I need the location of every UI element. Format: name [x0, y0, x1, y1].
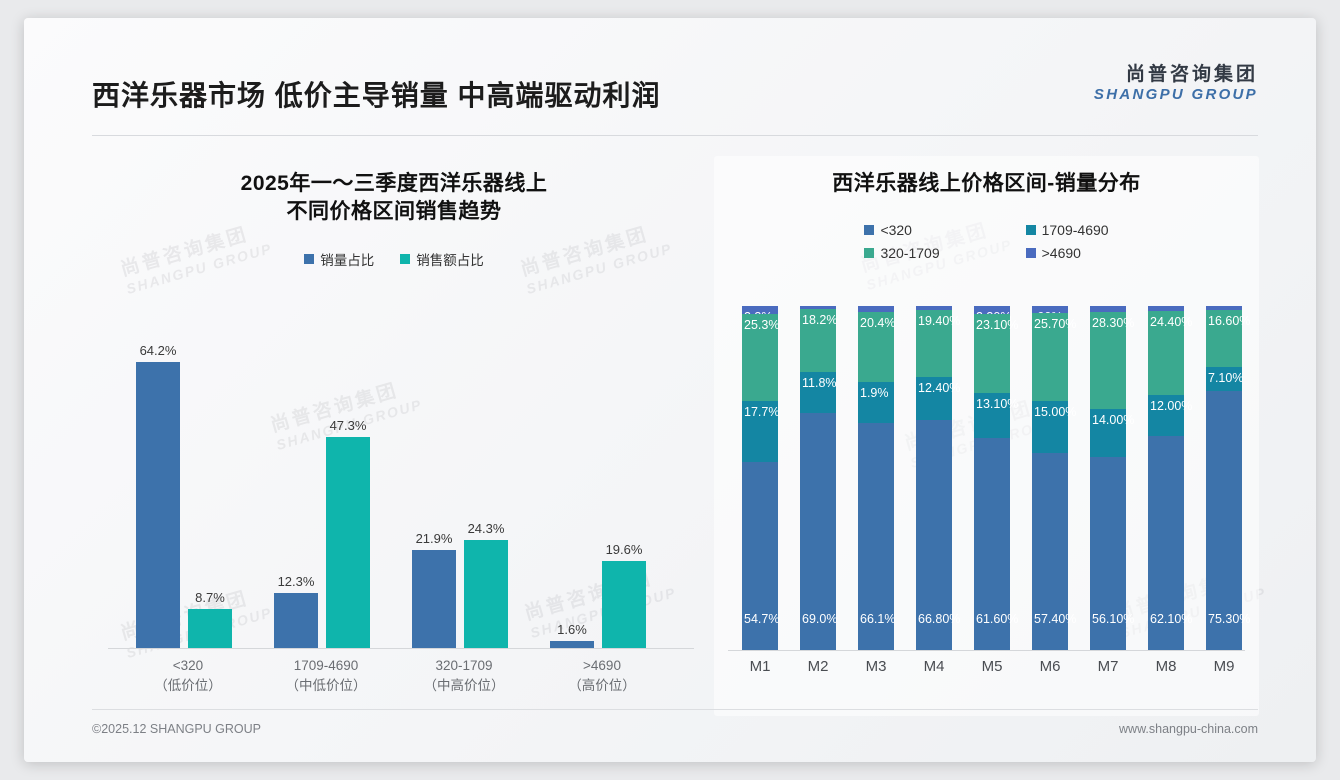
bar-fill	[550, 641, 594, 648]
slide-header: 西洋乐器市场 低价主导销量 中高端驱动利润 尚普咨询集团 SHANGPU GRO…	[24, 18, 1316, 122]
stack-value-label: 12.00%	[1150, 399, 1192, 413]
legend-swatch-icon	[1026, 225, 1036, 235]
bar-value-label: 19.6%	[602, 542, 646, 561]
legend-item-1[interactable]: 1709-4690	[1026, 222, 1109, 238]
stack-segment[interactable]: 56.10%	[1090, 457, 1126, 650]
bar-fill	[136, 362, 180, 648]
stack-value-label: 12.40%	[918, 381, 960, 395]
bar-value-label: 47.3%	[326, 418, 370, 437]
bar-group: 64.2%8.7%	[126, 336, 250, 648]
stack-segment[interactable]: 12.00%	[1148, 395, 1184, 436]
bar-value-label: 21.9%	[412, 531, 456, 550]
stacked-bar[interactable]: .70%28.30%14.00%56.10%	[1090, 306, 1126, 650]
left-chart-legend: 销量占比销售额占比	[84, 249, 704, 269]
stack-segment[interactable]: 23.10%	[974, 314, 1010, 393]
left-chart-title: 2025年一～三季度西洋乐器线上 不同价格区间销售趋势	[84, 170, 704, 227]
legend-label: 320-1709	[880, 245, 939, 261]
footer-website: www.shangpu-china.com	[1119, 722, 1258, 736]
bar[interactable]: 24.3%	[464, 540, 508, 648]
legend-item-2[interactable]: 320-1709	[864, 245, 939, 261]
stack-value-label: 25.70%	[1034, 317, 1076, 331]
stack-value-label: 17.7%	[744, 405, 779, 419]
category-range: <320	[126, 656, 250, 676]
category-tier: （中低价位）	[264, 676, 388, 696]
x-axis-month-label: M1	[742, 658, 778, 675]
stack-segment[interactable]: 28.30%	[1090, 312, 1126, 409]
left-chart-panel: 2025年一～三季度西洋乐器线上 不同价格区间销售趋势 销量占比销售额占比 64…	[84, 156, 704, 716]
legend-label: 1709-4690	[1042, 222, 1109, 238]
stack-segment[interactable]: 20.4%	[858, 312, 894, 382]
header-divider	[92, 135, 1258, 136]
stack-segment[interactable]: 75.30%	[1206, 391, 1242, 650]
x-axis-category-label: 1709-4690（中低价位）	[264, 656, 388, 695]
logo-cn-text: 尚普咨询集团	[1094, 64, 1258, 86]
category-tier: （中高价位）	[402, 676, 526, 696]
x-axis-month-label: M8	[1148, 658, 1184, 675]
stack-value-label: 75.30%	[1208, 612, 1250, 626]
stack-value-label: 69.0%	[802, 612, 837, 626]
bar-fill	[188, 609, 232, 648]
stack-segment[interactable]: 13.10%	[974, 393, 1010, 438]
stacked-bar[interactable]: 1.6%20.4%1.9%66.1%	[858, 306, 894, 650]
brand-logo: 尚普咨询集团 SHANGPU GROUP	[1094, 64, 1258, 104]
slide-canvas: 尚普咨询集团 SHANGPU GROUP 尚普咨询集团 SHANGPU GROU…	[24, 18, 1316, 762]
stacked-bar[interactable]: .90%25.70%15.00%57.40%	[1032, 306, 1068, 650]
stack-segment[interactable]: 24.40%	[1148, 311, 1184, 395]
stacked-bar[interactable]: 2.30%23.10%13.10%61.60%	[974, 306, 1010, 650]
bar-value-label: 64.2%	[136, 343, 180, 362]
left-chart-title-line2: 不同价格区间销售趋势	[84, 198, 704, 226]
logo-en-text: SHANGPU GROUP	[1094, 86, 1258, 104]
x-axis-month-label: M9	[1206, 658, 1242, 675]
stack-segment[interactable]: 19.40%	[916, 310, 952, 377]
stack-value-label: 24.40%	[1150, 315, 1192, 329]
stack-segment[interactable]: 25.70%	[1032, 313, 1068, 401]
x-axis-month-label: M4	[916, 658, 952, 675]
stack-value-label: 16.60%	[1208, 314, 1250, 328]
stack-value-label: 66.80%	[918, 612, 960, 626]
legend-label: <320	[880, 222, 912, 238]
stack-value-label: 66.1%	[860, 612, 895, 626]
category-tier: （高价位）	[540, 676, 664, 696]
bar[interactable]: 8.7%	[188, 609, 232, 648]
legend-item-1[interactable]: 销售额占比	[400, 249, 484, 269]
legend-item-3[interactable]: >4690	[1026, 245, 1109, 261]
stack-segment[interactable]: 62.10%	[1148, 436, 1184, 650]
bar-fill	[326, 437, 370, 648]
stack-segment[interactable]: 61.60%	[974, 438, 1010, 650]
right-chart-panel: 西洋乐器线上价格区间-销量分布 <3201709-4690320-1709>46…	[714, 156, 1259, 716]
legend-swatch-icon	[400, 254, 410, 264]
bar-fill	[412, 550, 456, 648]
bar-group: 12.3%47.3%	[264, 336, 388, 648]
bar-fill	[464, 540, 508, 648]
x-axis-month-label: M3	[858, 658, 894, 675]
legend-swatch-icon	[304, 254, 314, 264]
bar[interactable]: 21.9%	[412, 550, 456, 648]
stack-value-label: 1.9%	[860, 386, 889, 400]
stack-value-label: 19.40%	[918, 314, 960, 328]
stack-segment[interactable]: 66.1%	[858, 423, 894, 650]
stack-segment[interactable]: 2.3%	[742, 306, 778, 314]
stack-segment[interactable]: 7.10%	[1206, 367, 1242, 391]
stack-segment[interactable]: 15.00%	[1032, 401, 1068, 453]
x-axis-category-label: 320-1709（中高价位）	[402, 656, 526, 695]
x-axis-month-label: M5	[974, 658, 1010, 675]
stacked-bar[interactable]: 1.0%18.2%11.8%69.0%	[800, 306, 836, 650]
legend-label: 销售额占比	[416, 249, 484, 269]
bar-value-label: 1.6%	[550, 622, 594, 641]
stack-value-label: 54.7%	[744, 612, 779, 626]
stacked-bar[interactable]: .50%24.40%12.00%62.10%	[1148, 306, 1184, 650]
x-axis-category-label: >4690（高价位）	[540, 656, 664, 695]
right-chart-axis	[728, 650, 1245, 651]
stack-segment[interactable]: 14.00%	[1090, 409, 1126, 457]
stack-value-label: 25.3%	[744, 318, 779, 332]
stack-segment[interactable]: 54.7%	[742, 462, 778, 650]
stack-segment[interactable]: 1.9%	[858, 382, 894, 423]
bar-value-label: 24.3%	[464, 521, 508, 540]
page-title: 西洋乐器市场 低价主导销量 中高端驱动利润	[92, 74, 661, 114]
legend-label: >4690	[1042, 245, 1081, 261]
category-range: 1709-4690	[264, 656, 388, 676]
category-range: >4690	[540, 656, 664, 676]
stack-value-label: 56.10%	[1092, 612, 1134, 626]
stacked-bar[interactable]: 2.3%25.3%17.7%54.7%	[742, 306, 778, 650]
category-tier: （低价位）	[126, 676, 250, 696]
x-axis-month-label: M7	[1090, 658, 1126, 675]
x-axis-month-label: M2	[800, 658, 836, 675]
stack-segment[interactable]: 57.40%	[1032, 453, 1068, 650]
stack-segment[interactable]: 17.7%	[742, 401, 778, 462]
bar[interactable]: 12.3%	[274, 593, 318, 648]
x-axis-category-label: <320（低价位）	[126, 656, 250, 695]
stack-segment[interactable]: 66.80%	[916, 420, 952, 650]
stack-segment[interactable]: 69.0%	[800, 413, 836, 650]
stack-segment[interactable]: 2.30%	[974, 306, 1010, 314]
right-chart-legend: <3201709-4690320-1709>4690	[714, 222, 1259, 261]
bar[interactable]: 19.6%	[602, 561, 646, 648]
right-chart-plot: 2.3%25.3%17.7%54.7%1.0%18.2%11.8%69.0%1.…	[736, 306, 1237, 650]
bar-fill	[602, 561, 646, 648]
legend-swatch-icon	[1026, 248, 1036, 258]
legend-item-0[interactable]: 销量占比	[304, 249, 374, 269]
stack-segment[interactable]: 12.40%	[916, 377, 952, 420]
left-chart-plot: 64.2%8.7%12.3%47.3%21.9%24.3%1.6%19.6%	[108, 336, 694, 648]
left-chart-title-line1: 2025年一～三季度西洋乐器线上	[84, 170, 704, 198]
stack-value-label: 14.00%	[1092, 413, 1134, 427]
legend-label: 销量占比	[320, 249, 374, 269]
stack-segment[interactable]: 16.60%	[1206, 310, 1242, 367]
legend-swatch-icon	[864, 248, 874, 258]
stack-value-label: 28.30%	[1092, 316, 1134, 330]
legend-item-0[interactable]: <320	[864, 222, 939, 238]
stack-value-label: 57.40%	[1034, 612, 1076, 626]
stack-value-label: 7.10%	[1208, 371, 1243, 385]
right-chart-title: 西洋乐器线上价格区间-销量分布	[714, 170, 1259, 198]
left-chart-axis	[108, 648, 694, 649]
bar-group: 21.9%24.3%	[402, 336, 526, 648]
stack-value-label: 62.10%	[1150, 612, 1192, 626]
category-range: 320-1709	[402, 656, 526, 676]
bar[interactable]: 47.3%	[326, 437, 370, 648]
stack-segment[interactable]: 18.2%	[800, 309, 836, 372]
stack-value-label: 18.2%	[802, 313, 837, 327]
footer-copyright: ©2025.12 SHANGPU GROUP	[92, 722, 261, 736]
stack-value-label: 13.10%	[976, 397, 1018, 411]
bar[interactable]: 1.6%	[550, 641, 594, 648]
legend-swatch-icon	[864, 225, 874, 235]
stack-value-label: 23.10%	[976, 318, 1018, 332]
bar-group: 1.6%19.6%	[540, 336, 664, 648]
bar-value-label: 8.7%	[188, 590, 232, 609]
x-axis-month-label: M6	[1032, 658, 1068, 675]
stack-value-label: 20.4%	[860, 316, 895, 330]
stack-value-label: 11.8%	[802, 376, 837, 390]
bar-fill	[274, 593, 318, 648]
stack-segment[interactable]: 25.3%	[742, 314, 778, 401]
stack-value-label: 61.60%	[976, 612, 1018, 626]
stack-value-label: 15.00%	[1034, 405, 1076, 419]
stacked-bar[interactable]: .30%19.40%12.40%66.80%	[916, 306, 952, 650]
bar[interactable]: 64.2%	[136, 362, 180, 648]
bar-value-label: 12.3%	[274, 574, 318, 593]
stack-segment[interactable]: 11.8%	[800, 372, 836, 413]
footer-divider	[92, 709, 1258, 710]
stacked-bar[interactable]: .10%16.60%7.10%75.30%	[1206, 306, 1242, 650]
